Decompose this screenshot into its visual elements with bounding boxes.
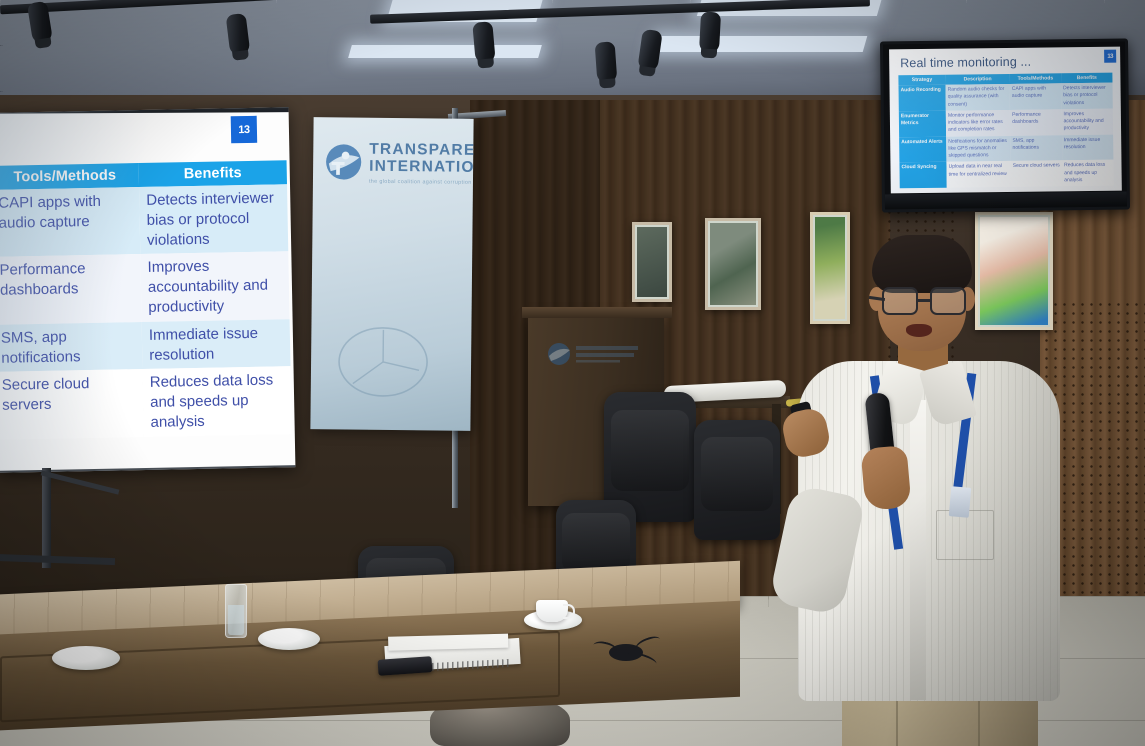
transparency-international-banner: TRANSPARENCY INTERNATIONAL the global co… [310, 117, 473, 431]
tv-cell-tools: CAPI apps with audio capture [1010, 83, 1062, 109]
presenter-hand-right [860, 445, 911, 511]
projector-cell-benefits: Immediate issue resolution [142, 319, 291, 369]
eyeglasses-bridge [918, 299, 932, 302]
track-spotlight [699, 12, 721, 54]
lectern-logo-icon [546, 338, 646, 370]
presenter-hair [872, 235, 972, 293]
projector-col-benefits: Benefits [139, 160, 287, 187]
tv-screen-content: Real time monitoring ... 13 Strategy Des… [889, 47, 1122, 194]
projector-table-row: CAPI apps with audio capture Detects int… [0, 184, 288, 259]
eyeglasses-lens-right [930, 287, 966, 315]
eyeglasses-lens-left [882, 287, 918, 315]
banner-graphic-icon [333, 317, 434, 402]
conference-room-scene: Real time monitoring ... 13 Strategy Des… [0, 0, 1145, 746]
id-badge [949, 486, 972, 518]
tv-slide-title: Real time monitoring ... [900, 55, 1031, 71]
shirt-placket [910, 400, 926, 700]
lectern-top-surface [522, 307, 672, 318]
projector-table-row: SMS, app notifications Immediate issue r… [0, 319, 290, 374]
tv-cell-strategy: Cloud Syncing [899, 162, 946, 188]
projector-cell-benefits: Improves accountability and productivity [140, 252, 289, 322]
tv-col-tools: Tools/Methods [1010, 73, 1061, 84]
chair[interactable] [694, 420, 780, 540]
tv-cell-description: Random audio checks for quality assuranc… [946, 84, 1010, 111]
tv-cell-strategy: Audio Recording [899, 85, 946, 111]
tv-cell-benefits: Improves accountability and productivity [1061, 108, 1113, 134]
transparency-international-logo-icon [325, 143, 362, 180]
projection-screen: 13 Tools/Methods Benefits CAPI apps with… [0, 107, 295, 473]
tv-cell-benefits: Immediate issue resolution [1062, 134, 1114, 160]
tv-cell-description: Monitor performance indicators like erro… [946, 110, 1010, 137]
saucer-plate[interactable] [52, 646, 120, 670]
tv-cell-strategy: Automated Alerts [899, 136, 946, 162]
tv-cell-strategy: Enumerator Metrics [899, 110, 946, 136]
tv-cell-benefits: Detects interviewer bias or protocol vio… [1061, 83, 1113, 109]
framed-artwork [632, 222, 672, 302]
tv-cell-description: Upload data in near real time for centra… [947, 161, 1011, 188]
artwork-image [637, 227, 667, 297]
banner-tagline: the global coalition against corruption [369, 179, 474, 186]
tv-bezel-bottom [885, 192, 1127, 210]
track-spotlight [472, 21, 495, 64]
tv-col-benefits: Benefits [1061, 73, 1112, 84]
tv-col-strategy: Strategy [898, 75, 945, 86]
projector-table-row: Performance dashboards Improves accounta… [0, 252, 290, 327]
projector-table-row: Secure cloud servers Reduces data loss a… [0, 367, 292, 442]
projector-cell-tools: CAPI apps with audio capture [0, 187, 140, 257]
projector-cell-tools: SMS, app notifications [0, 322, 143, 372]
banner-line-2: INTERNATIONAL [369, 158, 474, 176]
ceiling-light-panel [653, 36, 868, 52]
cable-wire [634, 634, 663, 655]
projector-cell-tools: Performance dashboards [0, 254, 142, 324]
tv-cell-benefits: Reduces data loss and speeds up analysis [1062, 160, 1114, 186]
presenter [770, 225, 1060, 746]
tv-cell-tools: Performance dashboards [1010, 109, 1062, 135]
artwork-image [710, 223, 756, 305]
track-spotlight [595, 41, 618, 83]
tv-cell-description: Notifications for anomalies like GPS mis… [946, 135, 1010, 162]
framed-artwork [705, 218, 761, 310]
drinking-glass[interactable] [225, 584, 247, 638]
banner-text-block: TRANSPARENCY INTERNATIONAL the global co… [369, 142, 474, 187]
tv-cell-tools: SMS, app notifications [1010, 135, 1062, 161]
projector-slide-number-badge: 13 [231, 116, 258, 143]
tv-slide-number-badge: 13 [1104, 50, 1116, 63]
ceiling-light-panel [348, 45, 542, 58]
tv-table-row: Automated Alerts Notifications for anoma… [899, 134, 1113, 162]
projector-screen-stand [42, 468, 51, 568]
tv-table-row: Audio Recording Random audio checks for … [899, 83, 1113, 111]
tv-slide-table: Strategy Description Tools/Methods Benef… [898, 73, 1113, 189]
cable-bundle[interactable] [597, 636, 661, 664]
projector-col-tools: Tools/Methods [0, 163, 139, 190]
wall-mounted-tv[interactable]: Real time monitoring ... 13 Strategy Des… [880, 38, 1130, 212]
projector-slide-table: Tools/Methods Benefits CAPI apps with au… [0, 160, 292, 441]
tv-table-row: Enumerator Metrics Monitor performance i… [899, 108, 1113, 136]
projector-cell-benefits: Reduces data loss and speeds up analysis [143, 367, 292, 437]
coffee-cup[interactable] [536, 600, 568, 622]
presenter-mouth [906, 324, 932, 337]
tv-cell-tools: Secure cloud servers [1011, 161, 1063, 187]
saucer-plate[interactable] [258, 628, 320, 650]
projector-cell-benefits: Detects interviewer bias or protocol vio… [139, 184, 288, 254]
tv-table-row: Cloud Syncing Upload data in near real t… [899, 160, 1113, 188]
projector-cell-tools: Secure cloud servers [0, 369, 144, 439]
